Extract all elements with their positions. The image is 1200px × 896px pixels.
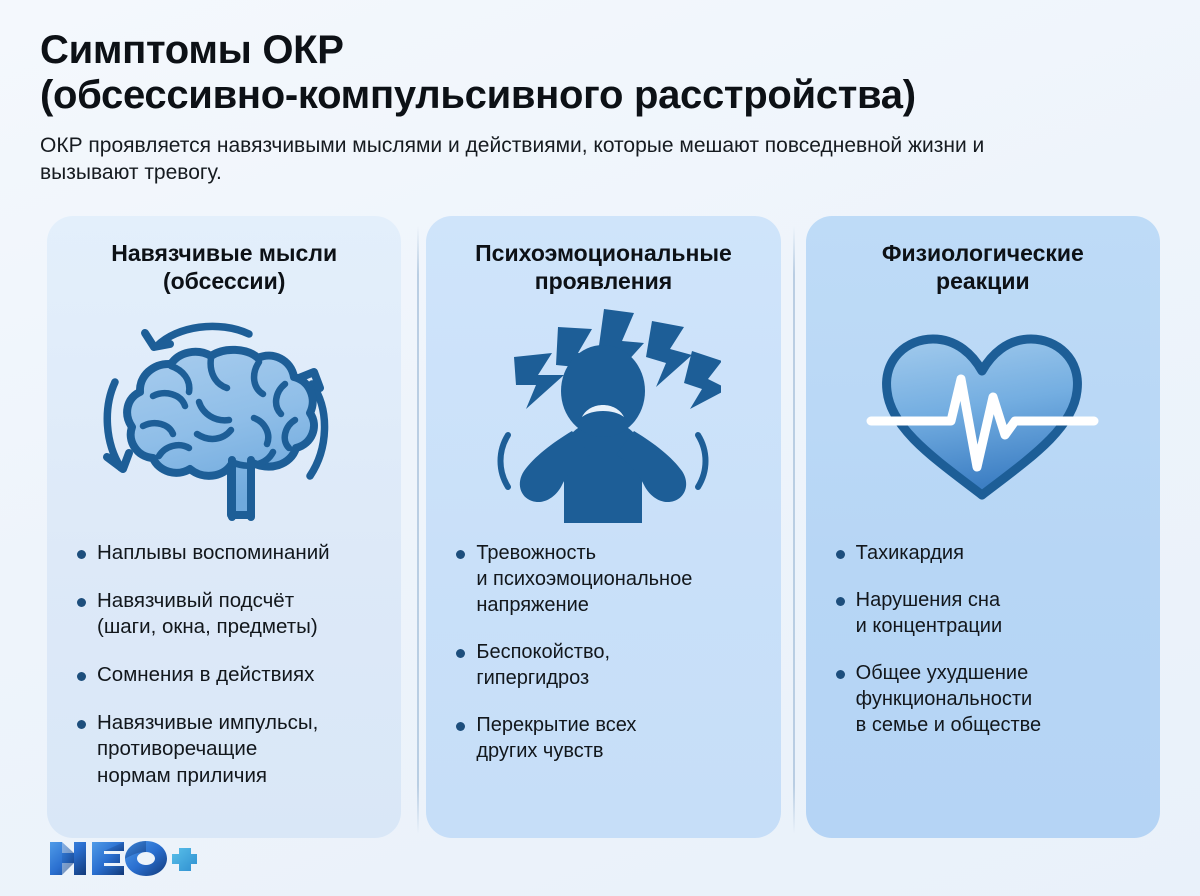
list-item: Наплывы воспоминаний bbox=[77, 540, 379, 567]
card-3-bullet-list: Тахикардия Нарушения сна и концентрации … bbox=[828, 540, 1138, 738]
bullet-text: Навязчивые импульсы, противоречащие норм… bbox=[97, 710, 318, 790]
bullet-text: Перекрытие всех других чувств bbox=[476, 712, 636, 764]
list-item: Тахикардия bbox=[836, 540, 1138, 566]
heart-pulse-icon bbox=[828, 298, 1138, 536]
bullet-text: Нарушения сна и концентрации bbox=[856, 587, 1002, 639]
cards-row: Навязчивые мысли (обсессии) bbox=[47, 216, 1160, 838]
list-item: Навязчивые импульсы, противоречащие норм… bbox=[77, 710, 379, 790]
page-title-line-2: (обсессивно-компульсивного расстройства) bbox=[40, 73, 1160, 118]
list-item: Общее ухудшение функциональности в семье… bbox=[836, 660, 1138, 738]
card-physiological: Физиологические реакции bbox=[806, 216, 1160, 838]
card-psychoemotional: Психоэмоциональные проявления bbox=[426, 216, 780, 838]
bullet-text: Тревожность и психоэмоциональное напряже… bbox=[476, 540, 692, 618]
list-item: Нарушения сна и концентрации bbox=[836, 587, 1138, 639]
stressed-person-icon bbox=[448, 298, 758, 536]
card-2-title: Психоэмоциональные проявления bbox=[448, 240, 758, 298]
bullet-text: Наплывы воспоминаний bbox=[97, 540, 330, 567]
bullet-text: Беспокойство, гипергидроз bbox=[476, 639, 610, 691]
bullet-dot-icon bbox=[456, 722, 465, 731]
list-item: Перекрытие всех других чувств bbox=[456, 712, 758, 764]
card-2-bullet-list: Тревожность и психоэмоциональное напряже… bbox=[448, 540, 758, 764]
brain-cycle-icon bbox=[69, 298, 379, 536]
bullet-dot-icon bbox=[456, 649, 465, 658]
infographic-page: Симптомы ОКР (обсессивно-компульсивного … bbox=[0, 0, 1200, 896]
bullet-dot-icon bbox=[836, 597, 845, 606]
bullet-dot-icon bbox=[77, 672, 86, 681]
card-3-title: Физиологические реакции bbox=[828, 240, 1138, 298]
list-item: Беспокойство, гипергидроз bbox=[456, 639, 758, 691]
bullet-dot-icon bbox=[836, 550, 845, 559]
bullet-dot-icon bbox=[77, 720, 86, 729]
neo-plus-logo bbox=[48, 838, 198, 878]
page-title: Симптомы ОКР (обсессивно-компульсивного … bbox=[40, 28, 1160, 118]
bullet-text: Общее ухудшение функциональности в семье… bbox=[856, 660, 1042, 738]
bullet-dot-icon bbox=[456, 550, 465, 559]
list-item: Тревожность и психоэмоциональное напряже… bbox=[456, 540, 758, 618]
page-title-line-1: Симптомы ОКР bbox=[40, 28, 344, 72]
page-subtitle: ОКР проявляется навязчивыми мыслями и де… bbox=[40, 132, 1070, 187]
bullet-text: Тахикардия bbox=[856, 540, 964, 566]
bullet-dot-icon bbox=[77, 550, 86, 559]
list-item: Сомнения в действиях bbox=[77, 662, 379, 689]
card-obsessive-thoughts: Навязчивые мысли (обсессии) bbox=[47, 216, 401, 838]
bullet-text: Сомнения в действиях bbox=[97, 662, 314, 689]
card-1-title: Навязчивые мысли (обсессии) bbox=[69, 240, 379, 298]
bullet-dot-icon bbox=[836, 670, 845, 679]
bullet-text: Навязчивый подсчёт (шаги, окна, предметы… bbox=[97, 588, 318, 641]
bullet-dot-icon bbox=[77, 598, 86, 607]
card-1-bullet-list: Наплывы воспоминаний Навязчивый подсчёт … bbox=[69, 540, 379, 789]
list-item: Навязчивый подсчёт (шаги, окна, предметы… bbox=[77, 588, 379, 641]
